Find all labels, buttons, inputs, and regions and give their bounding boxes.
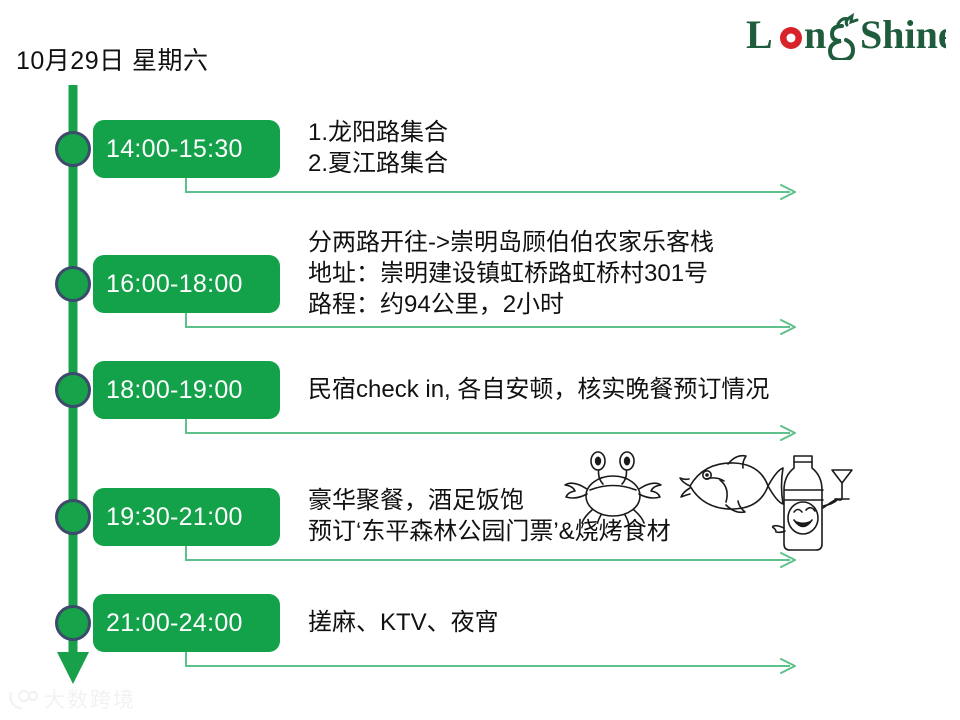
- row-description: 搓麻、KTV、夜宵: [308, 607, 948, 638]
- timeline-marker: [55, 131, 91, 167]
- timeline-marker: [55, 266, 91, 302]
- watermark-label: 大数跨境: [44, 684, 136, 714]
- row-description: 豪华聚餐，酒足饭饱 预订‘东平森林公园门票’&烧烤食材: [308, 485, 948, 547]
- longshine-logo: L n Shine: [746, 12, 946, 60]
- time-pill[interactable]: 14:00-15:30: [93, 120, 280, 178]
- svg-text:Shine: Shine: [860, 12, 946, 57]
- svg-text:n: n: [804, 12, 826, 57]
- timeline-marker: [55, 372, 91, 408]
- time-pill[interactable]: 18:00-19:00: [93, 361, 280, 419]
- row-description: 1.龙阳路集合 2.夏江路集合: [308, 117, 948, 179]
- watermark: 大数跨境: [8, 684, 136, 714]
- watermark-owl-icon: [8, 688, 38, 710]
- timeline-marker: [55, 605, 91, 641]
- longshine-logo-mark: L n Shine: [746, 12, 946, 60]
- time-pill[interactable]: 16:00-18:00: [93, 255, 280, 313]
- time-pill[interactable]: 19:30-21:00: [93, 488, 280, 546]
- time-pill[interactable]: 21:00-24:00: [93, 594, 280, 652]
- row-description: 分两路开往->崇明岛顾伯伯农家乐客栈 地址：崇明建设镇虹桥路虹桥村301号 路程…: [308, 227, 948, 320]
- page-title: 10月29日 星期六: [16, 48, 209, 76]
- timeline-marker: [55, 499, 91, 535]
- row-description: 民宿check in, 各自安顿，核实晚餐预订情况: [308, 374, 948, 405]
- svg-text:L: L: [746, 12, 773, 57]
